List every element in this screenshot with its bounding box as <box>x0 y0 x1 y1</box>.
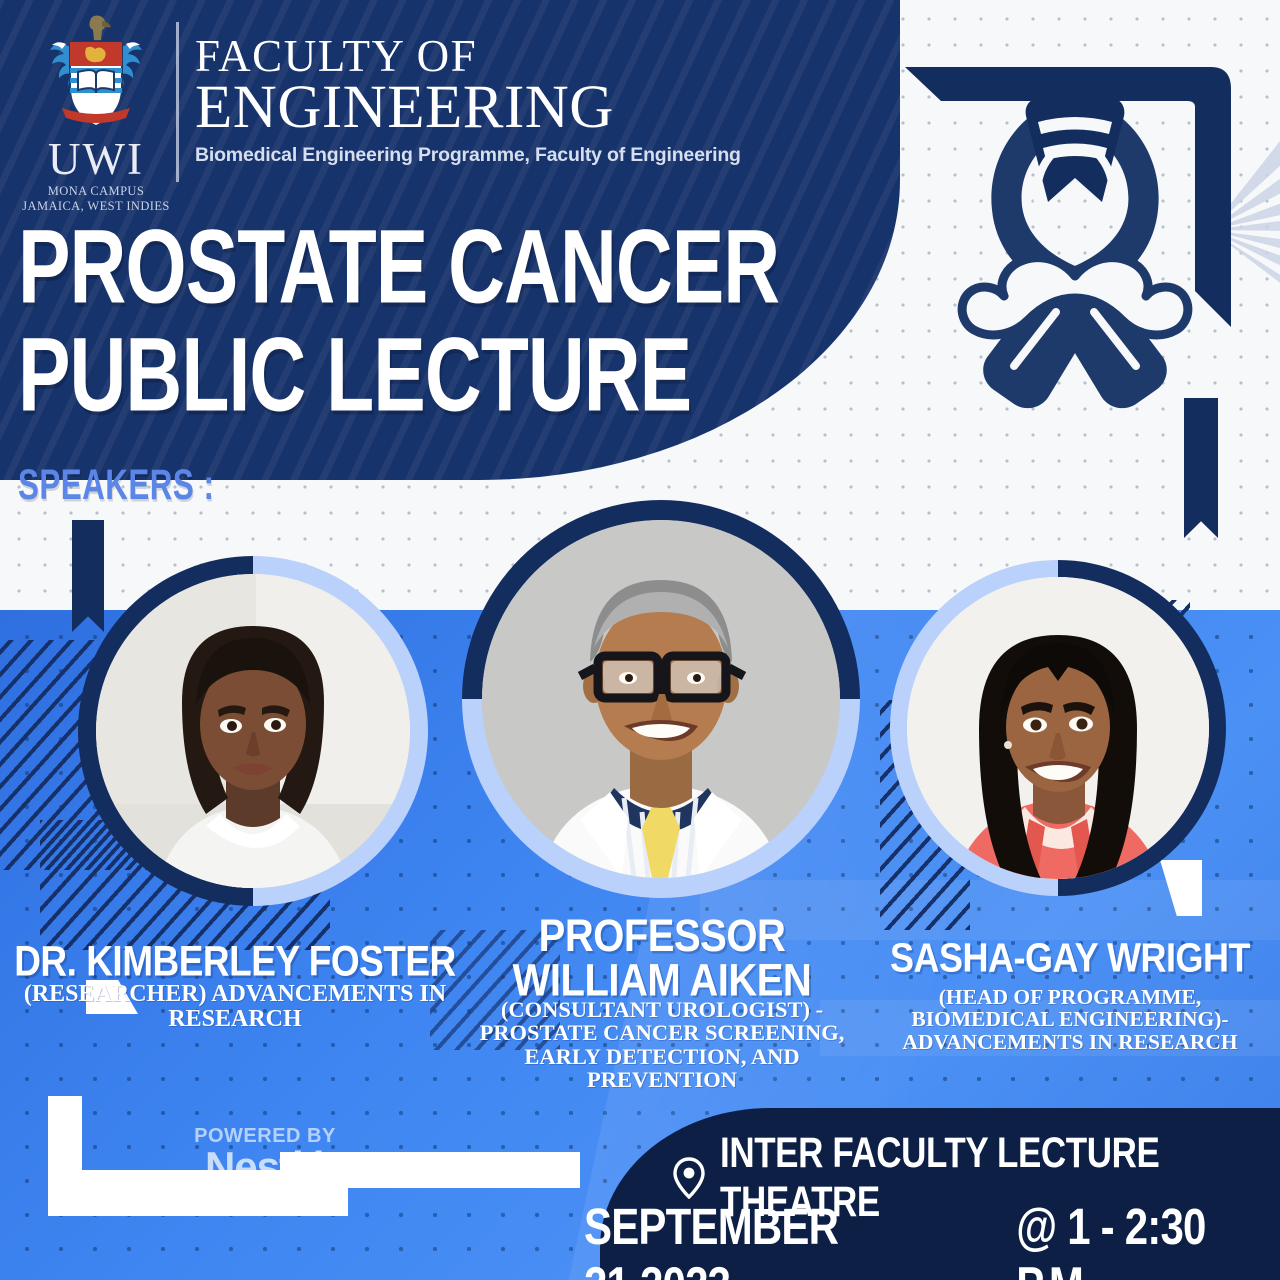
speaker-2-photo <box>482 520 840 878</box>
speaker-card-2 <box>462 500 860 898</box>
speaker-2-name: PROFESSOR WILLIAM AIKEN <box>452 915 872 1004</box>
faculty-line-1: FACULTY OF <box>195 36 741 78</box>
uwi-abbreviation: UWI <box>48 138 144 181</box>
poster-root: UWI MONA CAMPUS JAMAICA, WEST INDIES FAC… <box>0 0 1280 1280</box>
sponsor-name: Nestlé <box>170 1146 360 1188</box>
faculty-line-2: ENGINEERING <box>195 80 741 136</box>
page-title-line-1: PROSTATE CANCER <box>18 218 779 319</box>
speaker-3-photo <box>907 577 1209 879</box>
speaker-1-name: DR. KIMBERLEY FOSTER <box>0 941 470 982</box>
speaker-card-3 <box>890 560 1226 896</box>
title-block: PROSTATE CANCER PUBLIC LECTURE SPEAKERS … <box>18 218 811 498</box>
location-pin-icon <box>672 1157 706 1199</box>
uwi-coat-of-arms-icon <box>36 12 156 140</box>
speakers-label: SPEAKERS : <box>18 460 771 509</box>
event-time: @ 1 - 2:30 P.M <box>1016 1197 1280 1280</box>
date-time-row: SEPTEMBER 21,2023 @ 1 - 2:30 P.M <box>584 1208 1280 1280</box>
uwi-crest-block: UWI MONA CAMPUS JAMAICA, WEST INDIES <box>22 12 170 213</box>
prostate-cancer-awareness-ribbon-mustache-icon <box>930 70 1220 430</box>
speaker-3-name: SASHA-GAY WRIGHT <box>860 938 1280 978</box>
speaker-1-role: (RESEARCHER) ADVANCEMENTS IN RESEARCH <box>4 982 466 1032</box>
speaker-card-1 <box>78 556 428 906</box>
faculty-block: FACULTY OF ENGINEERING Biomedical Engine… <box>195 12 741 167</box>
sponsor-block: POWERED BY Nestlé <box>170 1125 360 1188</box>
event-date: SEPTEMBER 21,2023 <box>584 1197 990 1280</box>
speaker-2-role: (CONSULTANT UROLOGIST) - PROSTATE CANCER… <box>460 998 864 1092</box>
uwi-campus-line-1: MONA CAMPUS <box>22 184 169 199</box>
uwi-logo-row: UWI MONA CAMPUS JAMAICA, WEST INDIES FAC… <box>22 12 741 213</box>
speaker-1-photo <box>96 574 410 888</box>
programme-line: Biomedical Engineering Programme, Facult… <box>195 144 741 167</box>
speaker-3-role: (HEAD OF PROGRAMME, BIOMEDICAL ENGINEERI… <box>872 986 1268 1053</box>
logo-divider <box>176 22 179 182</box>
page-title-line-2: PUBLIC LECTURE <box>18 326 779 427</box>
